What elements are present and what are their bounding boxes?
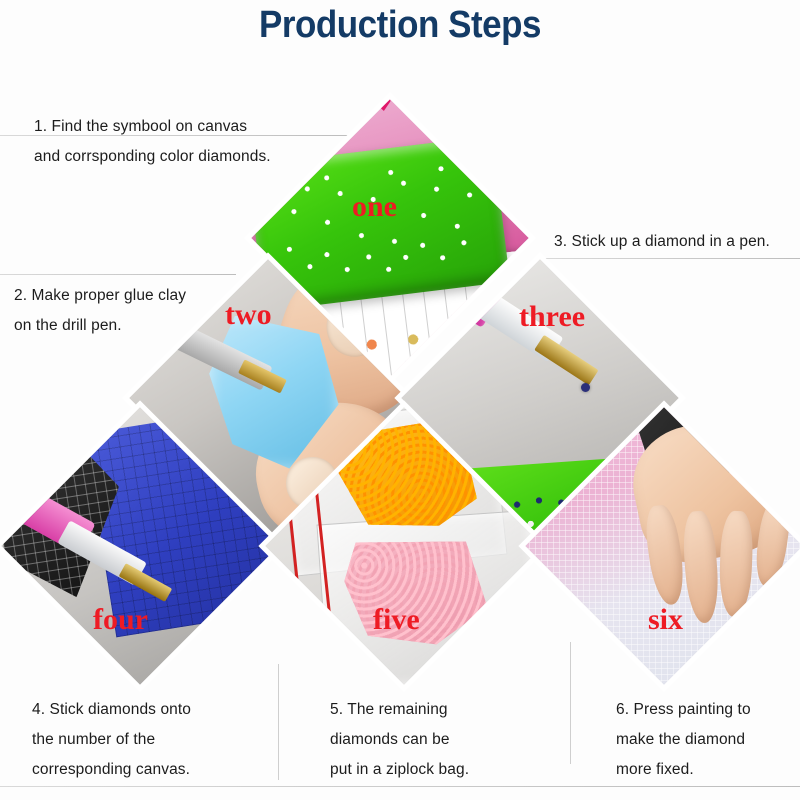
- picked-diamond: [581, 383, 590, 392]
- step-label-three: three: [519, 300, 585, 334]
- step-label-five: five: [373, 603, 420, 637]
- divider-column-1: [278, 664, 279, 780]
- step-5-line-2: diamonds can be: [330, 725, 469, 755]
- step-5-line-3: put in a ziplock bag.: [330, 755, 469, 785]
- step-label-two: two: [225, 298, 272, 332]
- step-caption-6: 6. Press painting to make the diamond mo…: [616, 695, 751, 785]
- production-steps-infographic: Production Steps one: [0, 0, 800, 800]
- step-4-line-1: 4. Stick diamonds onto: [32, 695, 191, 725]
- step-caption-3: 3. Stick up a diamond in a pen.: [554, 227, 770, 257]
- step-caption-2: 2. Make proper glue clay on the drill pe…: [14, 281, 186, 341]
- step-1-line-2: and corrsponding color diamonds.: [34, 142, 271, 172]
- finger-3: [718, 510, 754, 617]
- step-6-line-1: 6. Press painting to: [616, 695, 751, 725]
- divider-bottom: [0, 786, 800, 787]
- step-6-line-2: make the diamond: [616, 725, 751, 755]
- step-label-six: six: [648, 603, 683, 637]
- step-label-four: four: [93, 603, 148, 637]
- step-6-line-3: more fixed.: [616, 755, 751, 785]
- step-1-line-1: 1. Find the symbool on canvas: [34, 112, 271, 142]
- step-2-line-1: 2. Make proper glue clay: [14, 281, 186, 311]
- step-4-line-2: the number of the: [32, 725, 191, 755]
- step-2-line-2: on the drill pen.: [14, 311, 186, 341]
- step-caption-1: 1. Find the symbool on canvas and corrsp…: [34, 112, 271, 172]
- step-3-line-1: 3. Stick up a diamond in a pen.: [554, 227, 770, 257]
- step-label-one: one: [352, 190, 397, 224]
- step-4-line-3: corresponding canvas.: [32, 755, 191, 785]
- divider-column-2: [570, 642, 571, 764]
- divider-top-right: [540, 258, 800, 259]
- heart-shape: [375, 99, 393, 111]
- step-caption-5: 5. The remaining diamonds can be put in …: [330, 695, 469, 785]
- step-5-line-1: 5. The remaining: [330, 695, 469, 725]
- step-caption-4: 4. Stick diamonds onto the number of the…: [32, 695, 191, 785]
- divider-mid-left: [0, 274, 236, 275]
- page-title: Production Steps: [32, 4, 768, 47]
